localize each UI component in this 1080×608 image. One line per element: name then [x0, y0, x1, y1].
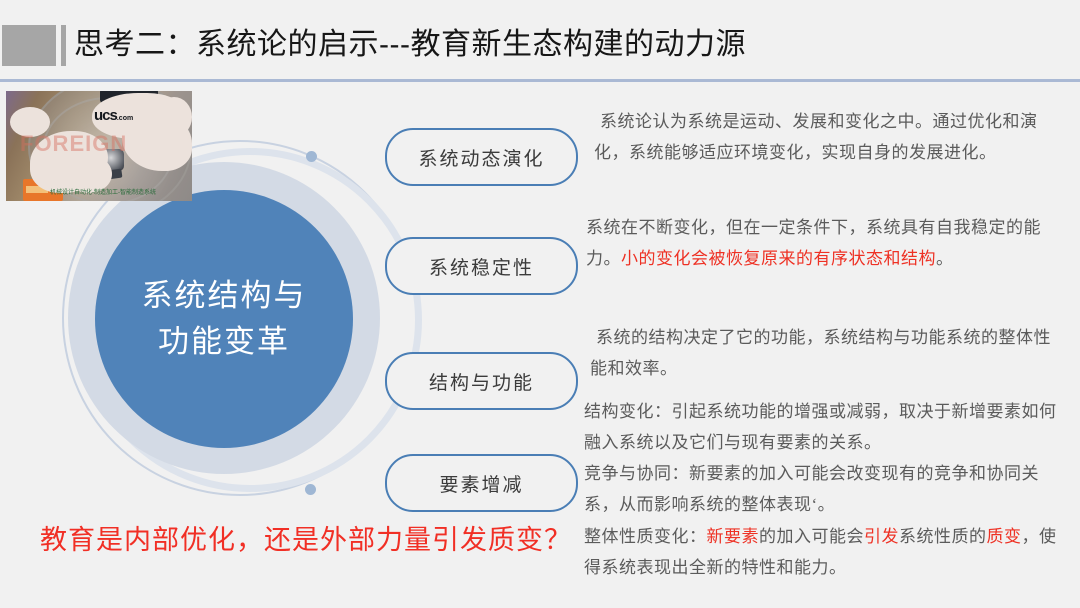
- photo-watermark: FOREIGN: [20, 131, 127, 157]
- illustration-photo: FOREIGN ucs.com 机械设计自动化-制造加工-智能制造系统: [6, 91, 192, 201]
- center-circle-label: 系统结构与 功能变革: [142, 273, 307, 365]
- highlighted-text: 新要素: [707, 527, 760, 546]
- header-accent-block: [2, 25, 56, 66]
- body-text: 系统的结构决定了它的功能，系统结构与功能系统的整体性能和效率。: [590, 328, 1051, 378]
- pill-system-stability[interactable]: 系统稳定性: [385, 237, 578, 295]
- header-accent-bar: [61, 25, 66, 66]
- header-divider: [0, 79, 1080, 82]
- paragraph-structural-change: 结构变化：引起系统功能的增强或减弱，取决于新增要素如何融入系统以及它们与现有要素…: [584, 396, 1068, 458]
- center-circle: 系统结构与 功能变革: [95, 190, 353, 448]
- body-text: 结构变化：引起系统功能的增强或减弱，取决于新增要素如何融入系统以及它们与现有要素…: [584, 402, 1057, 452]
- body-text: 系统论认为系统是运动、发展和变化之中。通过优化和演化，系统能够适应环境变化，实现…: [594, 112, 1038, 162]
- photo-caption: 机械设计自动化-制造加工-智能制造系统: [50, 187, 156, 196]
- body-text: 的加入可能会: [759, 527, 864, 546]
- pill-label: 结构与功能: [429, 368, 534, 395]
- highlighted-text: 引发: [864, 527, 899, 546]
- body-text: 系统性质的: [899, 527, 987, 546]
- body-text: 整体性质变化：: [584, 527, 707, 546]
- body-text: 。: [936, 249, 954, 268]
- paint-splat-icon: [156, 97, 192, 137]
- paragraph-overall-property-change: 整体性质变化：新要素的加入可能会引发系统性质的质变，使得系统表现出全新的特性和能…: [584, 521, 1072, 583]
- pill-structure-and-function[interactable]: 结构与功能: [385, 352, 578, 410]
- photo-logo-main: ucs: [94, 107, 117, 124]
- photo-logo: ucs.com: [94, 107, 133, 124]
- connector-dot-bottom: [305, 484, 316, 495]
- pill-element-add-remove[interactable]: 要素增减: [385, 454, 578, 512]
- page-title: 思考二：系统论的启示---教育新生态构建的动力源: [74, 24, 746, 66]
- highlighted-text: 小的变化会被恢复原来的有序状态和结构: [621, 249, 936, 268]
- connector-dot-top: [306, 151, 317, 162]
- closing-question: 教育是内部优化，还是外部力量引发质变？: [40, 520, 572, 560]
- paragraph-structure-function: 系统的结构决定了它的功能，系统结构与功能系统的整体性能和效率。: [590, 322, 1068, 384]
- paragraph-stability: 系统在不断变化，但在一定条件下，系统具有自我稳定的能力。小的变化会被恢复原来的有…: [586, 212, 1066, 274]
- pill-system-dynamic-evolution[interactable]: 系统动态演化: [385, 128, 578, 186]
- photo-logo-suffix: .com: [117, 115, 133, 122]
- paragraph-dynamic-evolution: 系统论认为系统是运动、发展和变化之中。通过优化和演化，系统能够适应环境变化，实现…: [594, 106, 1066, 168]
- pill-label: 系统稳定性: [429, 253, 534, 280]
- slide-canvas: 思考二：系统论的启示---教育新生态构建的动力源 FOREIGN ucs.com…: [0, 0, 1080, 608]
- highlighted-text: 质变: [987, 527, 1022, 546]
- pill-label: 要素增减: [439, 470, 523, 497]
- body-text: 竞争与协同：新要素的加入可能会改变现有的竞争和协同关系，从而影响系统的整体表现‘…: [584, 464, 1039, 514]
- paragraph-competition-synergy: 竞争与协同：新要素的加入可能会改变现有的竞争和协同关系，从而影响系统的整体表现‘…: [584, 458, 1068, 520]
- pill-label: 系统动态演化: [418, 144, 544, 171]
